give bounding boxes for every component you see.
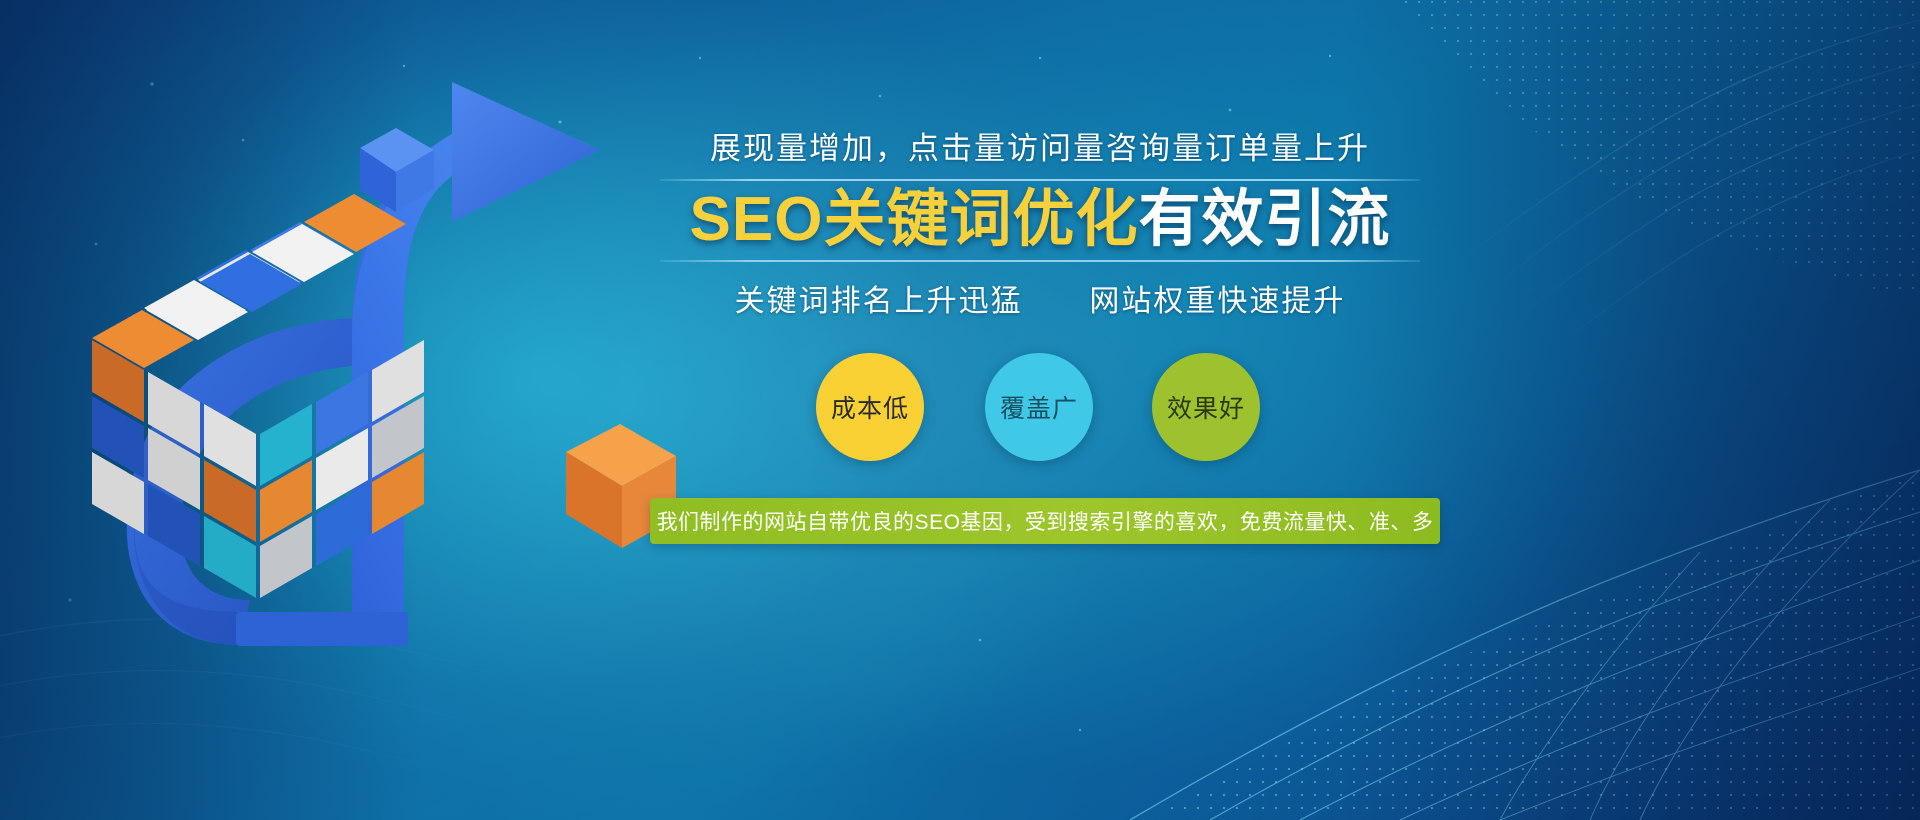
subtitle-left: 关键词排名上升迅猛 [735, 285, 1023, 318]
subtitle-right: 网站权重快速提升 [1089, 285, 1345, 318]
main-title: SEO关键词优化有效引流 [660, 185, 1420, 254]
subtitle-row: 关键词排名上升迅猛 网站权重快速提升 [660, 276, 1420, 320]
footer-note-bar: 我们制作的网站自带优良的SEO基因，受到搜索引擎的喜欢，免费流量快、准、多 [650, 498, 1440, 544]
badge-good-result[interactable]: 效果好 [1152, 353, 1260, 461]
footer-note-text: 我们制作的网站自带优良的SEO基因，受到搜索引擎的喜欢，免费流量快、准、多 [657, 506, 1434, 536]
feature-badges: 成本低 覆盖广 效果好 [800, 345, 1300, 470]
main-title-highlight: SEO关键词优化 [690, 185, 1139, 254]
badge-wide-coverage[interactable]: 覆盖广 [985, 353, 1093, 461]
divider-top [660, 179, 1420, 181]
headline-top: 展现量增加，点击量访问量咨询量订单量上升 [660, 130, 1420, 169]
badge-label: 成本低 [831, 389, 909, 425]
arrow-and-cube-illustration [0, 0, 760, 820]
main-title-rest: 有效引流 [1138, 185, 1390, 254]
seo-promo-banner: 展现量增加，点击量访问量咨询量订单量上升 SEO关键词优化有效引流 关键词排名上… [0, 0, 1920, 820]
divider-bottom [660, 260, 1420, 262]
headline-block: 展现量增加，点击量访问量咨询量订单量上升 SEO关键词优化有效引流 关键词排名上… [660, 130, 1420, 320]
badge-label: 效果好 [1167, 389, 1245, 425]
badge-label: 覆盖广 [1000, 389, 1078, 425]
badge-cost-low[interactable]: 成本低 [816, 353, 924, 461]
